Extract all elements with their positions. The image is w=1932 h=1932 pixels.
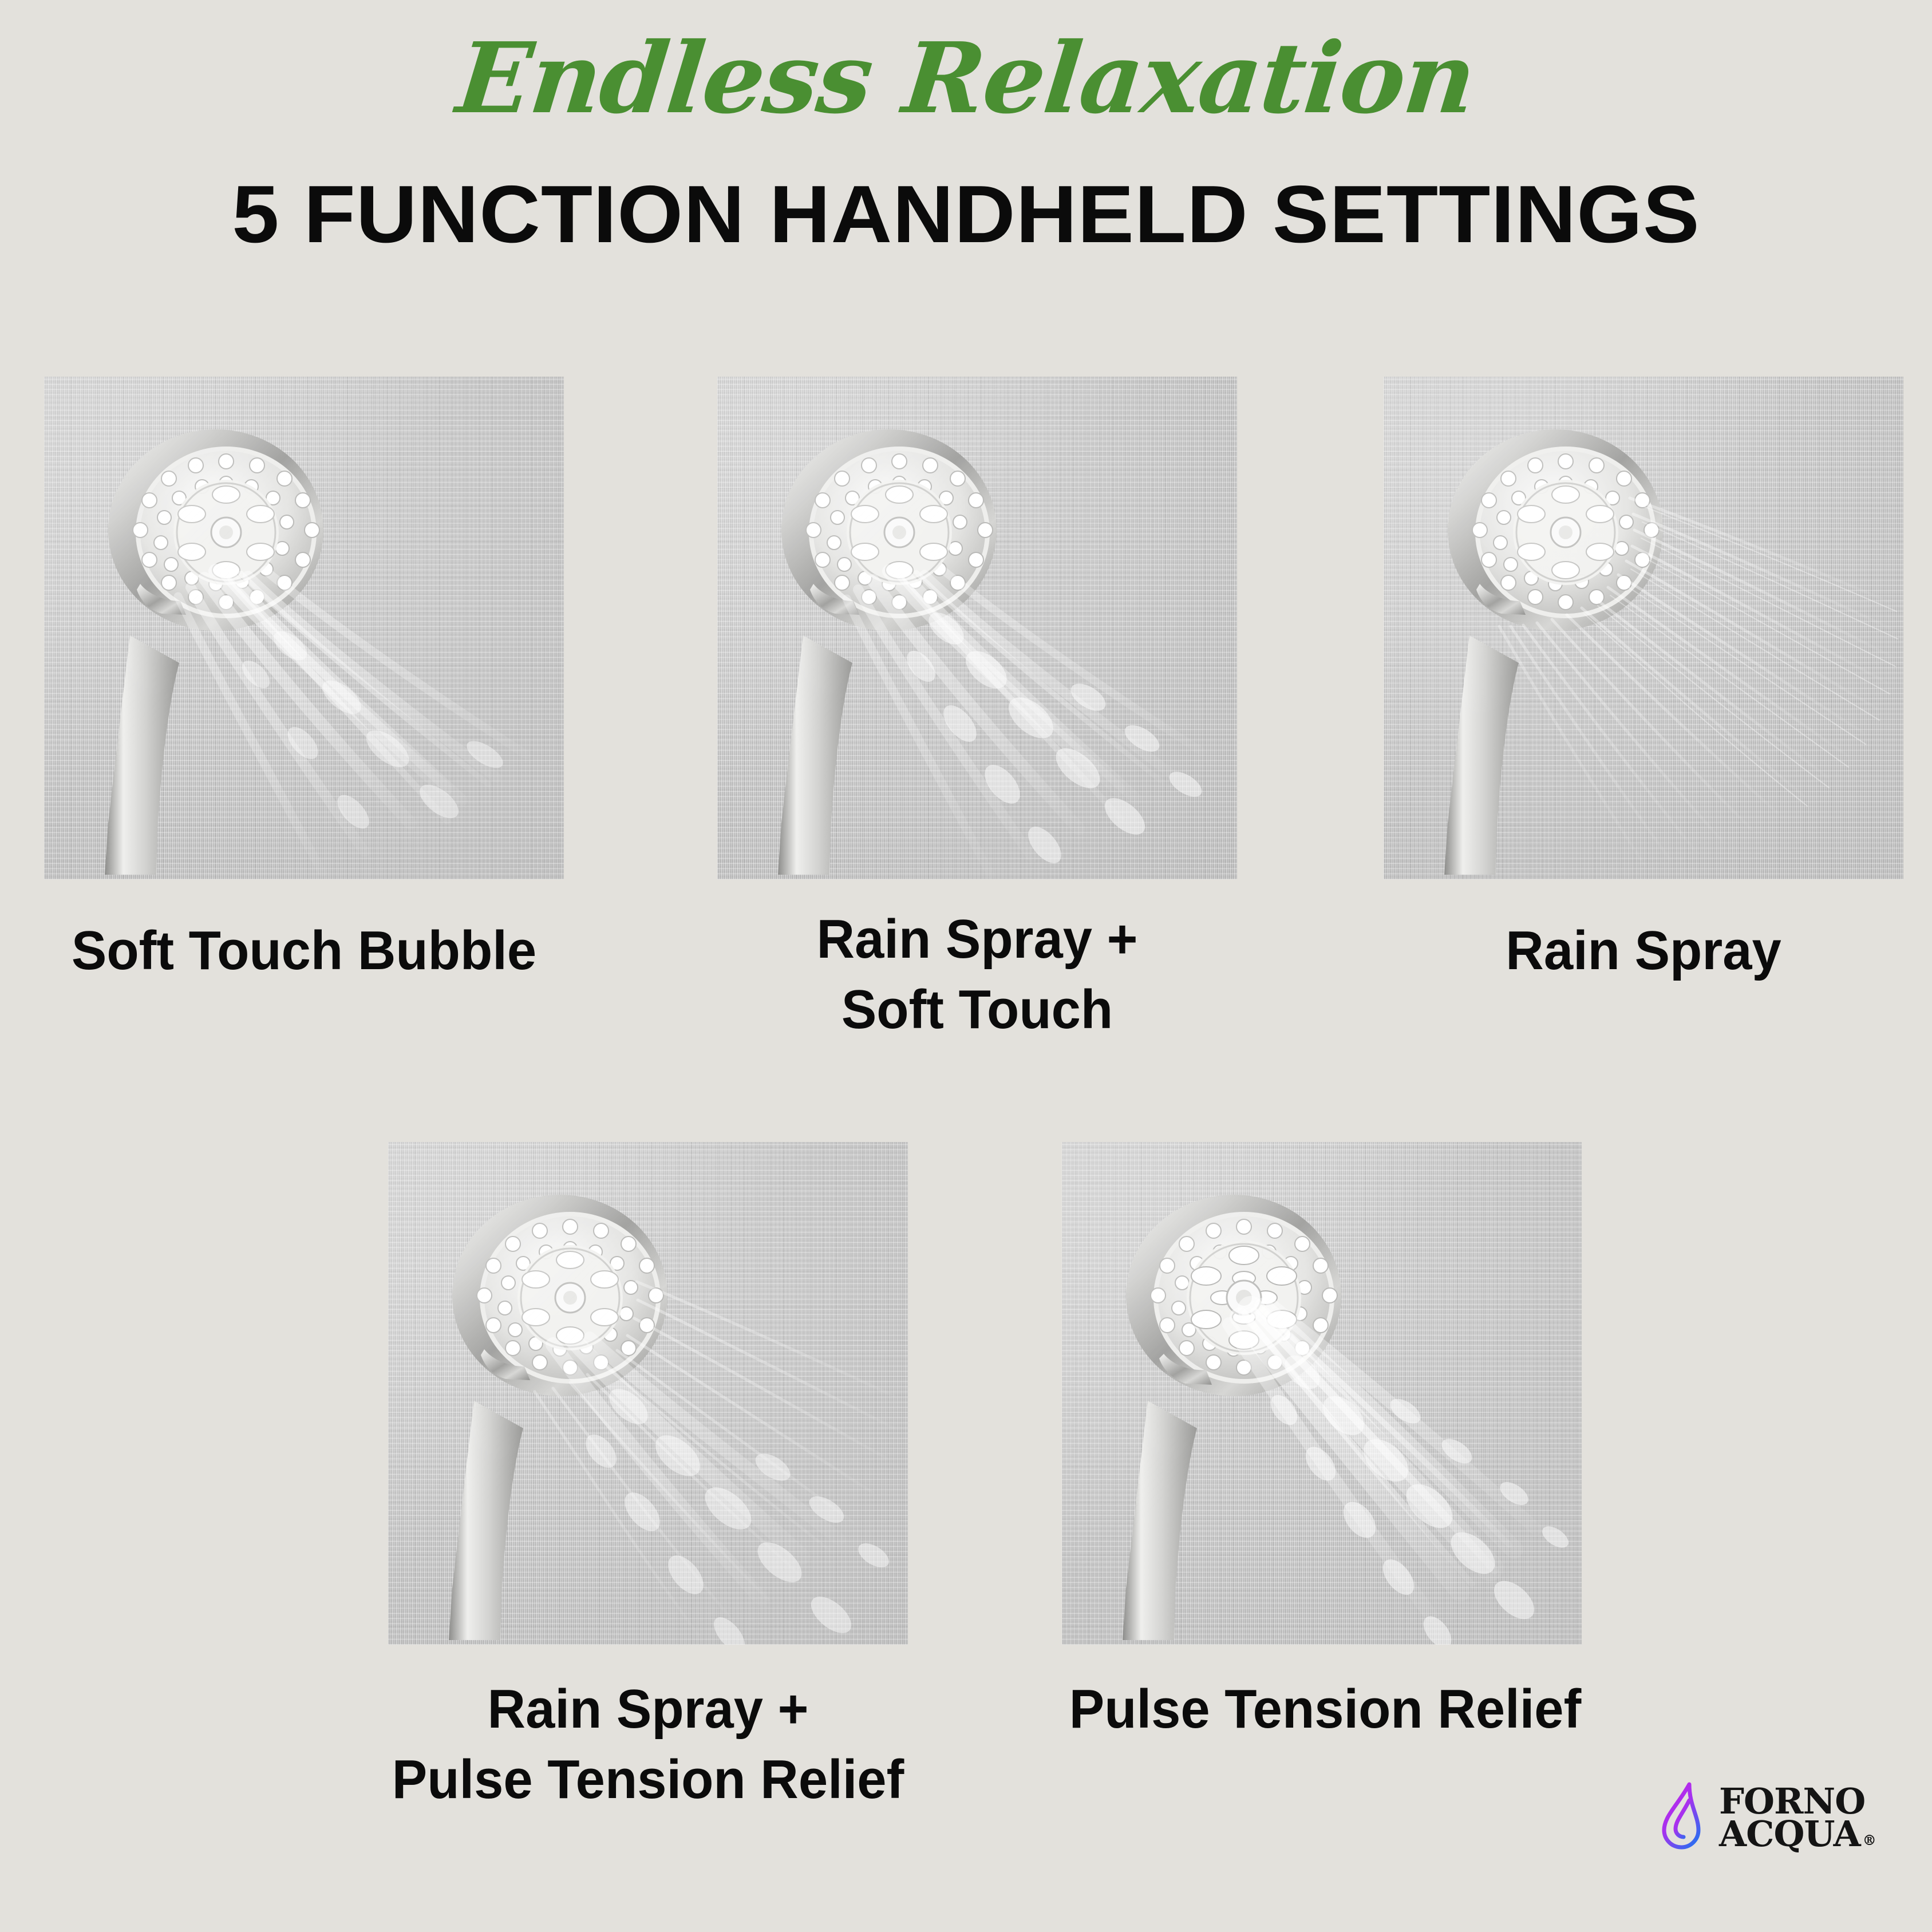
setting-caption-3: Rain Spray: [1394, 916, 1893, 986]
setting-caption-5: Pulse Tension Relief: [1050, 1674, 1600, 1745]
setting-tile-4[interactable]: [388, 1142, 908, 1645]
page-title: 5 FUNCTION HANDHELD SETTINGS: [0, 172, 1932, 257]
setting-tile-5[interactable]: [1062, 1142, 1582, 1645]
setting-caption-1: Soft Touch Bubble: [54, 916, 554, 986]
showerhead-image-rain-spray-plus-pulse-tension-relief: [388, 1142, 908, 1645]
brand-wordmark: FORNO ACQUA ®: [1719, 1785, 1876, 1850]
showerhead-image-soft-touch-bubble: [44, 377, 564, 879]
infographic-page: Endless Relaxation 5 FUNCTION HANDHELD S…: [0, 0, 1932, 1932]
setting-tile-3[interactable]: [1384, 377, 1903, 879]
brand-logo: FORNO ACQUA ®: [1656, 1775, 1897, 1860]
script-title: Endless Relaxation: [0, 27, 1932, 130]
brand-line-2: ACQUA: [1719, 1818, 1860, 1850]
setting-caption-4: Rain Spray + Pulse Tension Relief: [360, 1674, 936, 1815]
setting-tile-1[interactable]: [44, 377, 564, 879]
registered-trademark-mark: ®: [1863, 1834, 1876, 1847]
water-droplet-icon: [1656, 1781, 1711, 1854]
showerhead-image-rain-spray: [1384, 377, 1903, 879]
setting-caption-2: Rain Spray + Soft Touch: [728, 904, 1227, 1045]
showerhead-image-rain-spray-plus-soft-touch: [717, 377, 1237, 879]
showerhead-image-pulse-tension-relief: [1062, 1142, 1582, 1645]
setting-tile-2[interactable]: [717, 377, 1237, 879]
